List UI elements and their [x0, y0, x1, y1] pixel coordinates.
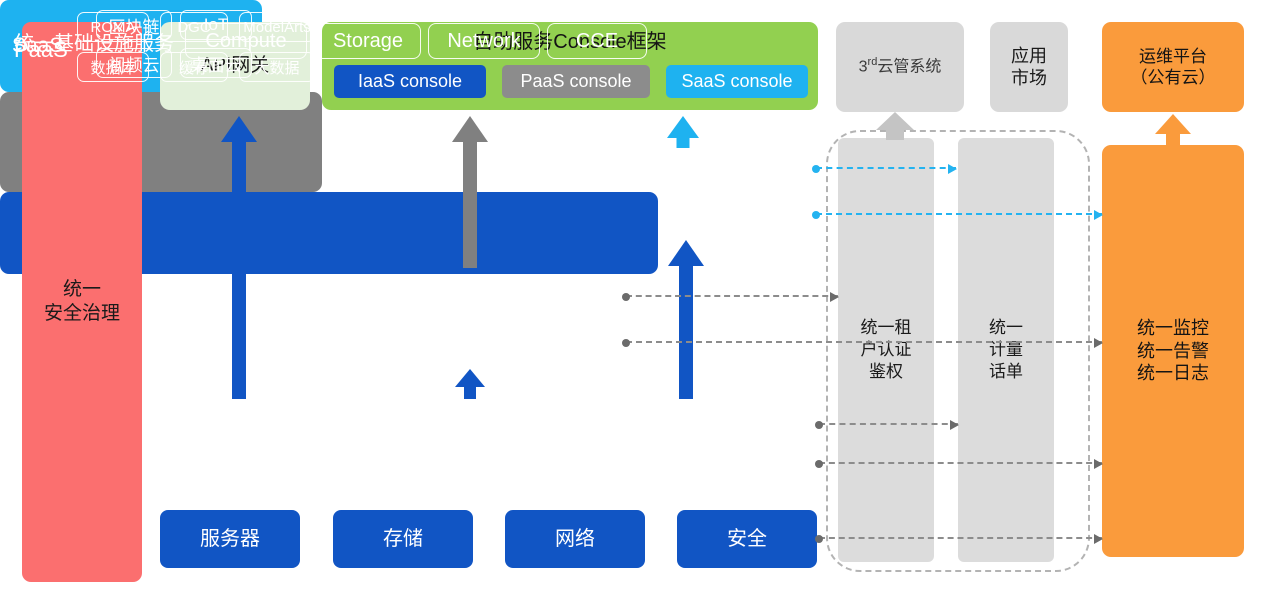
ops-platform-top-box: 运维平台 （公有云）: [1102, 22, 1244, 112]
infrastructure-service-chip: Storage: [315, 23, 421, 59]
app-market-box: 应用 市场: [990, 22, 1068, 112]
connector-start-dot: [812, 165, 820, 173]
connector-start-dot: [815, 535, 823, 543]
connector-start-dot: [622, 339, 630, 347]
connector-arrowhead: [948, 164, 957, 174]
auth-line3: 鉴权: [861, 361, 912, 383]
connector-infra-to-auth: [819, 423, 958, 425]
billing-line3: 话单: [989, 361, 1023, 383]
hardware-label: 安全: [727, 527, 767, 552]
connector-infra-to-ops: [819, 462, 1102, 464]
connector-arrowhead: [1094, 210, 1103, 220]
connector-paas-to-ops: [626, 341, 1102, 343]
connector-start-dot: [815, 421, 823, 429]
console-chip-iaas-label: IaaS console: [358, 70, 462, 93]
third-party-cloud-suffix: 云管系统: [877, 59, 941, 76]
auth-line1: 统一租: [861, 317, 912, 339]
connector-hardware-to-ops: [819, 537, 1102, 539]
connector-saas-to-auth: [816, 167, 956, 169]
connector-arrowhead: [830, 292, 839, 302]
connector-start-dot: [815, 460, 823, 468]
app-market-line1: 应用: [1011, 45, 1047, 68]
security-governance-line1: 统一: [44, 278, 120, 302]
connector-arrowhead: [1094, 338, 1103, 348]
security-governance-line2: 安全治理: [44, 302, 120, 326]
console-chip-paas-label: PaaS console: [520, 70, 631, 93]
hardware-label: 服务器: [200, 527, 260, 552]
console-chip-paas: PaaS console: [502, 65, 650, 98]
unified-metering-billing-column: 统一 计量 话单: [958, 138, 1054, 562]
infrastructure-label: 统一基础设施服务: [14, 0, 174, 82]
arrow-infra-to-api-gateway: [221, 116, 257, 399]
connector-arrowhead: [1094, 534, 1103, 544]
connector-start-dot: [812, 211, 820, 219]
console-chip-iaas: IaaS console: [334, 65, 486, 98]
app-market-line2: 市场: [1011, 67, 1047, 90]
arrow-to-third-party-cloud: [876, 112, 914, 140]
arrow-infra-to-saas: [668, 240, 704, 399]
security-governance-panel: 统一 安全治理: [22, 22, 142, 582]
infrastructure-service-chip: CCE: [547, 23, 647, 59]
infrastructure-service-chip: Compute: [185, 23, 307, 59]
third-party-cloud-management-box: 3rd云管系统: [836, 22, 964, 112]
third-party-cloud-superscript: rd: [868, 56, 878, 68]
ops-panel-line1: 统一监控: [1137, 317, 1209, 340]
arrow-paas-to-console: [452, 116, 488, 268]
architecture-diagram: 统一 安全治理 API网关 自助服务Console框架 IaaS console…: [0, 0, 1265, 605]
arrow-to-ops-platform: [1155, 114, 1191, 146]
console-chip-saas-label: SaaS console: [681, 70, 792, 93]
ops-platform-top-line1: 运维平台: [1131, 46, 1216, 67]
third-party-cloud-label: 3rd云管系统: [859, 56, 942, 77]
hardware-box-server: 服务器: [160, 510, 300, 568]
third-party-cloud-prefix: 3: [859, 59, 868, 76]
hardware-label: 存储: [383, 527, 423, 552]
ops-panel-line3: 统一日志: [1137, 362, 1209, 385]
ops-platform-panel: 统一监控 统一告警 统一日志: [1102, 145, 1244, 557]
hardware-label: 网络: [555, 527, 595, 552]
connector-start-dot: [622, 293, 630, 301]
infrastructure-service-chip: Network: [428, 23, 540, 59]
arrow-saas-to-console: [667, 116, 699, 148]
hardware-box-security: 安全: [677, 510, 817, 568]
connector-saas-to-ops: [816, 213, 1102, 215]
connector-paas-to-auth: [626, 295, 838, 297]
hardware-box-network: 网络: [505, 510, 645, 568]
billing-line1: 统一: [989, 317, 1023, 339]
ops-panel-line2: 统一告警: [1137, 340, 1209, 363]
connector-arrowhead: [950, 420, 959, 430]
hardware-box-storage: 存储: [333, 510, 473, 568]
console-chip-saas: SaaS console: [666, 65, 808, 98]
unified-tenant-auth-column: 统一租 户认证 鉴权: [838, 138, 934, 562]
ops-platform-top-line2: （公有云）: [1131, 67, 1216, 88]
arrow-infra-to-paas: [455, 369, 485, 399]
connector-arrowhead: [1094, 459, 1103, 469]
